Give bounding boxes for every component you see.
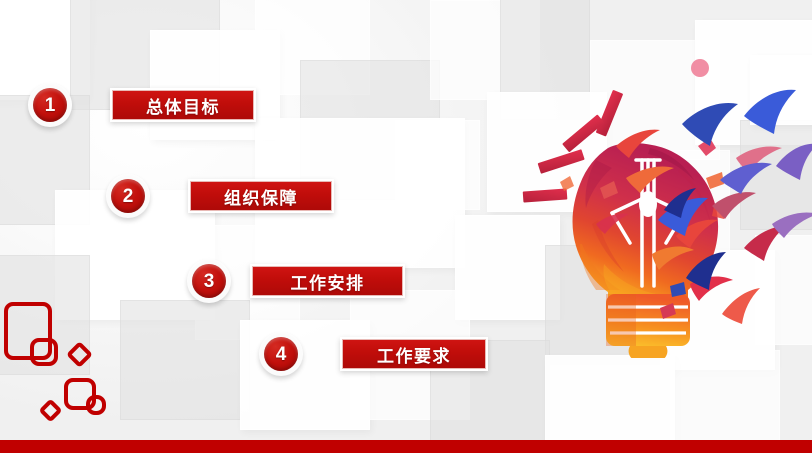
agenda-banner-3[interactable]: 工作安排 [250,264,405,298]
bg-square [545,355,675,450]
agenda-banner-fill: 工作要求 [342,339,486,369]
decor-rounded-square [86,395,106,415]
agenda-banner-label: 组织保障 [224,184,298,209]
agenda-number-label: 2 [111,179,145,213]
agenda-number-badge-1[interactable]: 1 [28,83,72,127]
agenda-number-label: 1 [33,88,67,122]
decor-rounded-square [30,338,58,366]
agenda-banner-2[interactable]: 组织保障 [188,179,334,213]
filament-bead [639,191,657,217]
agenda-banner-fill: 工作安排 [252,266,403,296]
agenda-banner-label: 工作要求 [377,342,451,367]
agenda-number-badge-4[interactable]: 4 [259,332,303,376]
agenda-banner-fill: 总体目标 [112,90,254,120]
bottom-accent-bar [0,440,812,453]
bg-square [395,120,480,210]
slide-canvas: 1总体目标2组织保障3工作安排4工作要求 [0,0,812,453]
agenda-number-badge-3[interactable]: 3 [187,259,231,303]
agenda-banner-label: 总体目标 [146,93,220,118]
decor-diamond [38,398,62,422]
agenda-number-badge-2[interactable]: 2 [106,174,150,218]
lightbulb-illustration [500,28,812,358]
decor-diamond [66,341,93,368]
bg-square [670,350,780,450]
agenda-banner-4[interactable]: 工作要求 [340,337,488,371]
agenda-banner-1[interactable]: 总体目标 [110,88,256,122]
agenda-number-label: 3 [192,264,226,298]
bulb-base [606,294,690,358]
agenda-banner-label: 工作安排 [291,269,365,294]
agenda-banner-fill: 组织保障 [190,181,332,211]
agenda-number-label: 4 [264,337,298,371]
decorative-shapes [0,290,160,440]
